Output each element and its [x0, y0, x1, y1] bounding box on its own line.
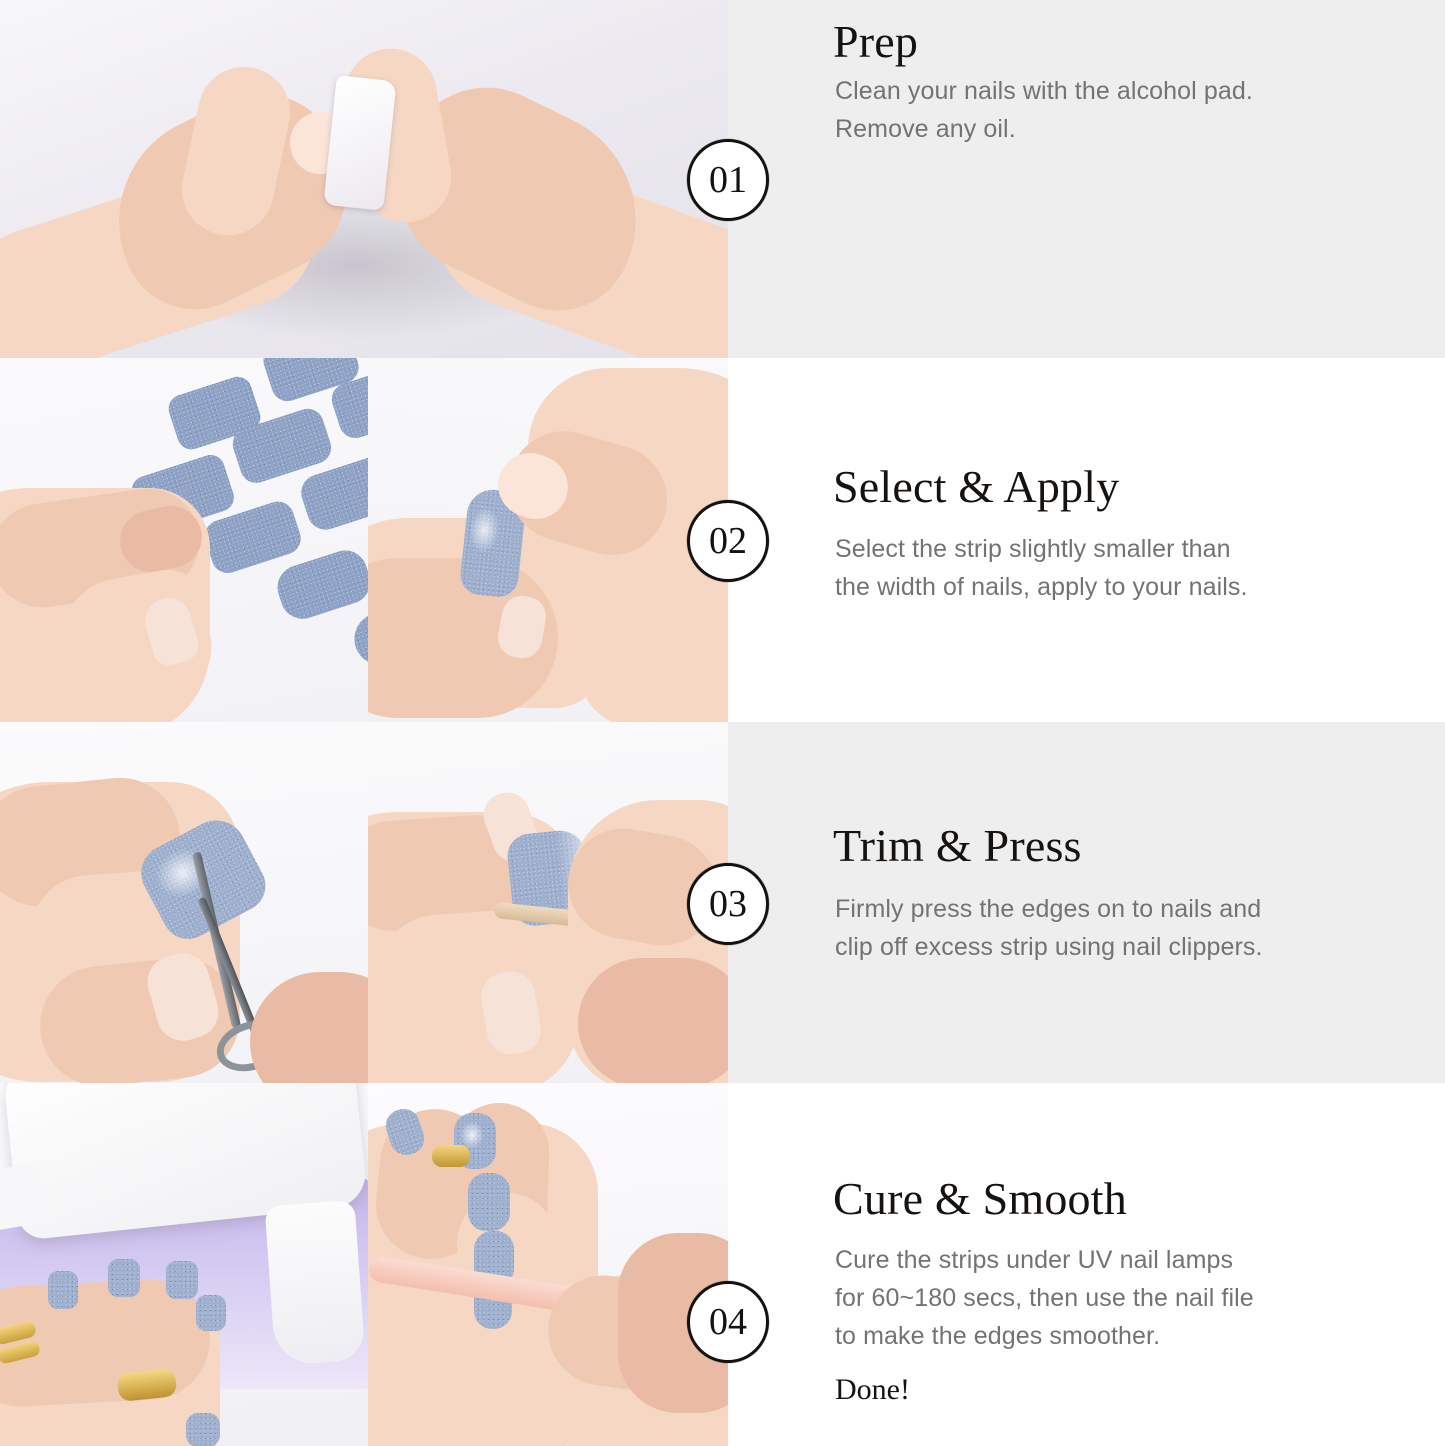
photo-trimming-strip-with-scissors	[0, 722, 368, 1083]
step-title: Prep	[833, 18, 918, 66]
step-row-03: Trim & Press Firmly press the edges on t…	[0, 722, 1445, 1083]
photo-cleaning-nail-with-alcohol-pad	[0, 0, 728, 358]
step-row-01: Prep Clean your nails with the alcohol p…	[0, 0, 1445, 358]
photo-column-01	[0, 0, 728, 358]
photo-filing-nail-edges	[368, 1083, 728, 1446]
step-description: Firmly press the edges on to nails and c…	[835, 890, 1263, 966]
step-title: Select & Apply	[833, 463, 1119, 511]
done-label: Done!	[835, 1373, 910, 1407]
step-row-04: Cure & Smooth Cure the strips under UV n…	[0, 1083, 1445, 1446]
step-description: Cure the strips under UV nail lamps for …	[835, 1241, 1254, 1355]
step-description: Select the strip slightly smaller than t…	[835, 530, 1248, 606]
step-number-badge-03: 03	[687, 863, 769, 945]
step-title: Trim & Press	[833, 822, 1082, 870]
step-row-02: Select & Apply Select the strip slightly…	[0, 358, 1445, 722]
photo-column-03	[0, 722, 728, 1083]
step-number-badge-01: 01	[687, 139, 769, 221]
photo-applying-strip-to-nail	[368, 358, 728, 722]
photo-sheet-of-nail-strips	[0, 358, 368, 722]
text-column-01: Prep Clean your nails with the alcohol p…	[728, 0, 1445, 358]
step-description: Clean your nails with the alcohol pad. R…	[835, 72, 1253, 148]
step-title: Cure & Smooth	[833, 1175, 1127, 1223]
photo-curing-under-uv-lamp	[0, 1083, 368, 1446]
step-number-badge-04: 04	[687, 1281, 769, 1363]
text-column-02: Select & Apply Select the strip slightly…	[728, 358, 1445, 722]
photo-column-04	[0, 1083, 728, 1446]
text-column-04: Cure & Smooth Cure the strips under UV n…	[728, 1083, 1445, 1446]
step-number-badge-02: 02	[687, 500, 769, 582]
text-column-03: Trim & Press Firmly press the edges on t…	[728, 722, 1445, 1083]
instruction-infographic: Prep Clean your nails with the alcohol p…	[0, 0, 1445, 1446]
photo-column-02	[0, 358, 728, 722]
photo-pressing-edges-with-stick	[368, 722, 728, 1083]
